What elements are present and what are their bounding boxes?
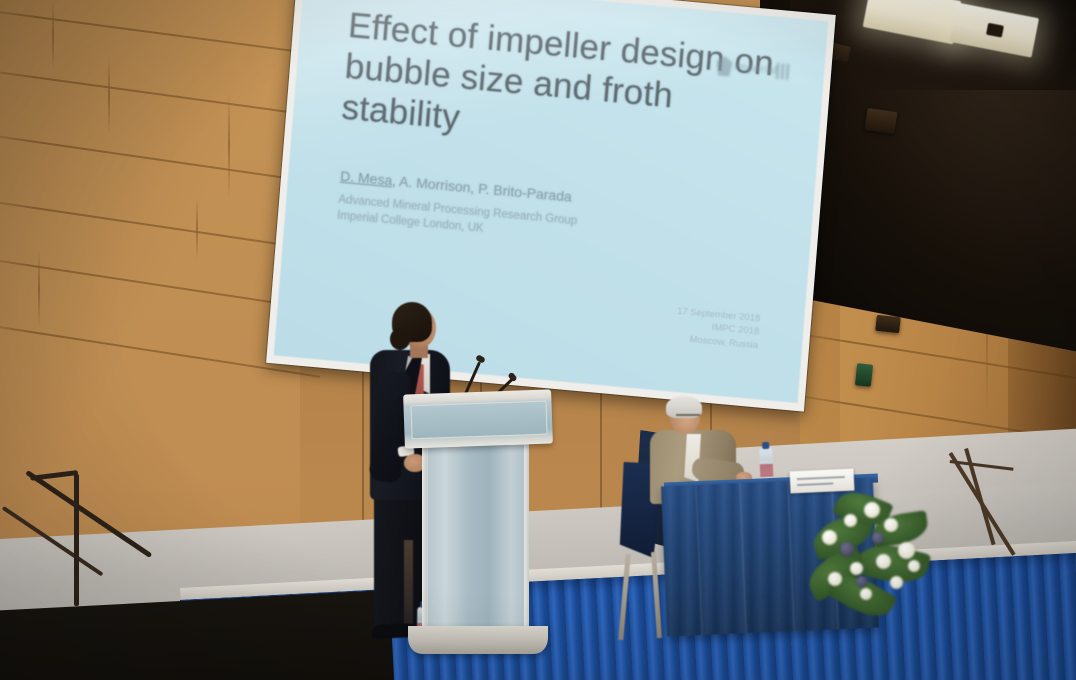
bottle-cap [762,442,769,449]
chair-leg [651,552,662,638]
chair-leg [618,554,630,640]
slide-footer: 17 September 2018 IMPC 2018 Moscow, Russ… [674,304,760,353]
lectern-column [427,444,527,632]
lectern-top [403,389,553,448]
wall-panel-seams-left [0,0,320,470]
bottle-label [760,464,773,477]
logo-wordmark: Imperial [734,61,778,77]
projection-screen: Effect of impeller design on bubble size… [265,0,836,424]
wall-speaker-upper [865,108,898,134]
stair-handrail-left-post [74,474,79,606]
exit-sign [855,363,873,387]
logo-shield-icon [716,55,734,76]
lecture-hall-photo: Effect of impeller design on bubble size… [0,0,1076,680]
flower-arrangement [806,484,966,634]
lectern [404,392,552,662]
lectern-column-edge-right [524,444,529,632]
speaker-hair-bun [390,328,410,350]
logo-bars-icon [775,63,790,80]
slide-author-lead: D. Mesa [340,168,393,189]
wall-speaker-lower [875,315,901,333]
slide-title: Effect of impeller design on bubble size… [340,6,778,167]
chair-person-glasses [676,414,700,422]
lectern-front-panel [410,401,547,440]
lectern-base [408,626,548,654]
lectern-column-edge-left [422,444,427,632]
light-fixture-dot [986,23,1004,38]
